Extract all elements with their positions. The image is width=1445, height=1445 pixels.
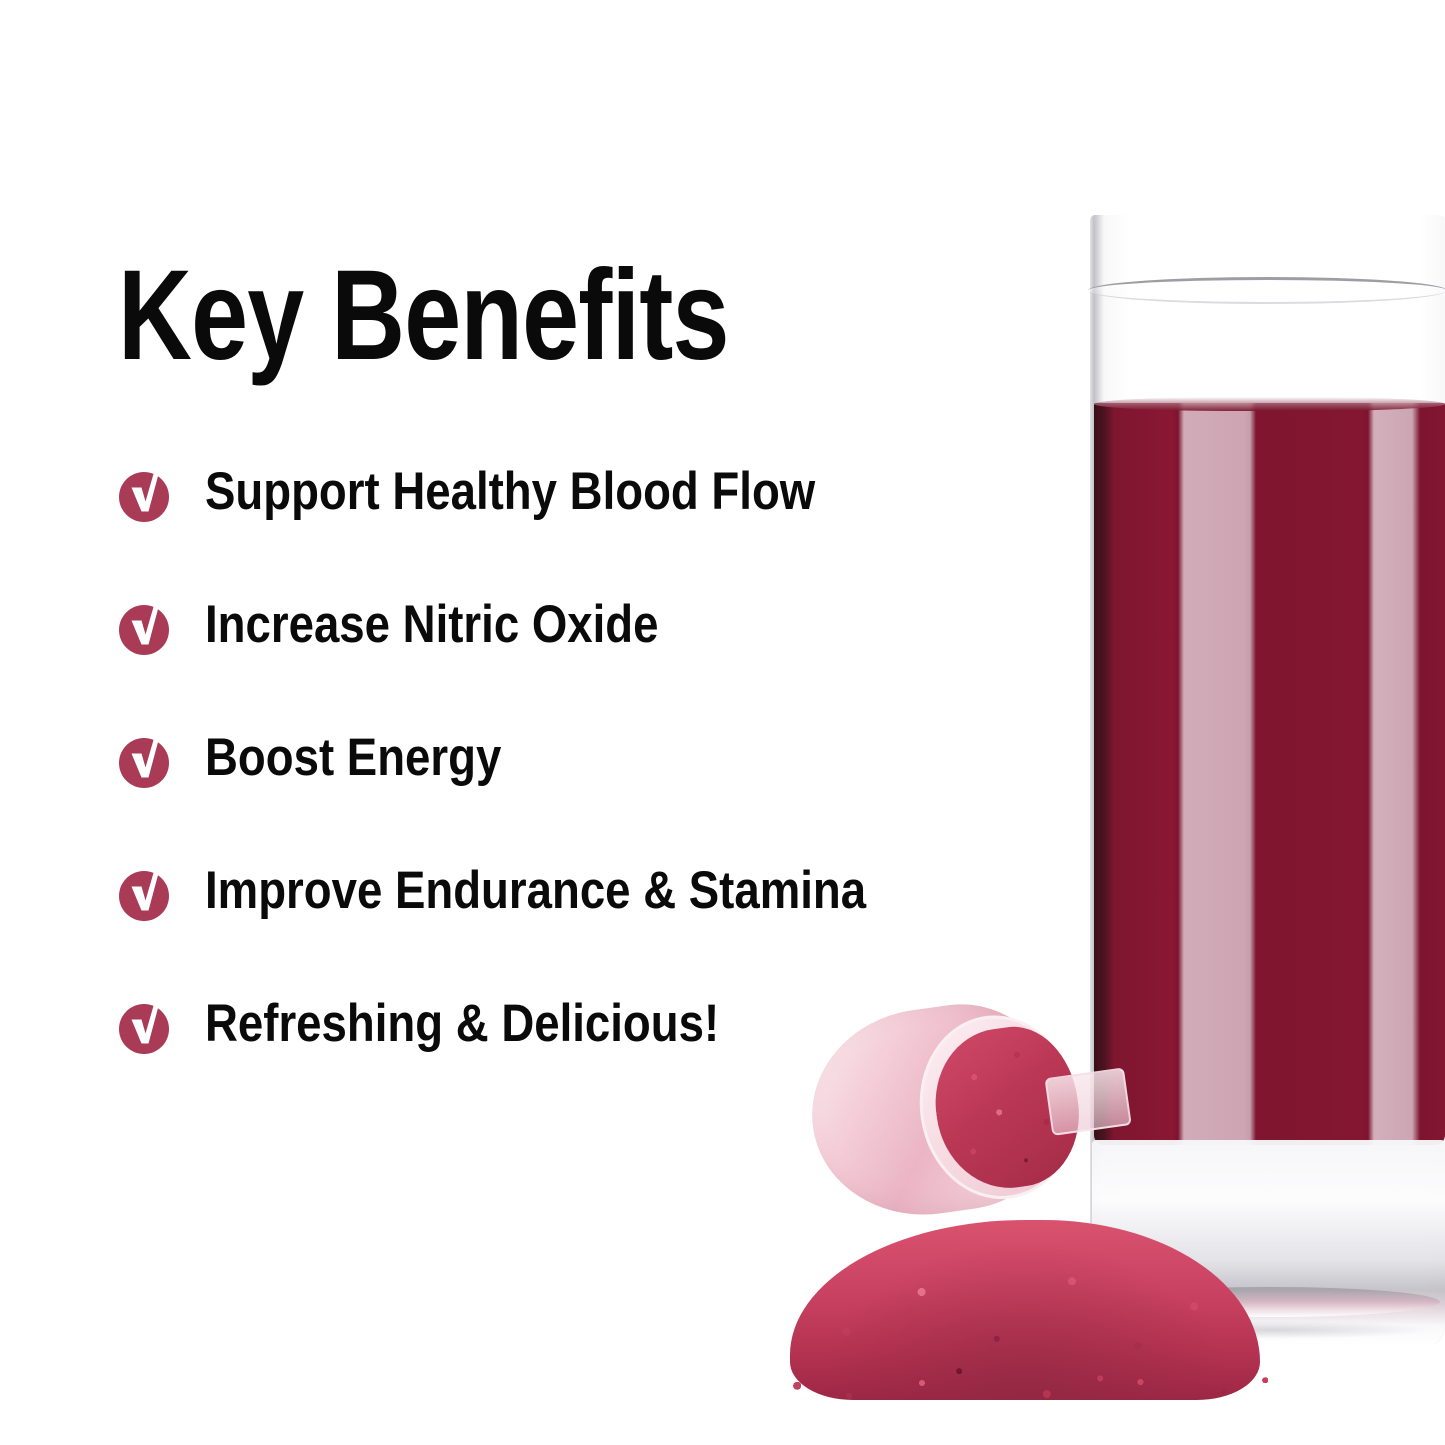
glass-rim bbox=[1088, 277, 1445, 304]
scoop-handle bbox=[1044, 1067, 1131, 1136]
powder-scatter bbox=[766, 1360, 1286, 1406]
beet-juice bbox=[1094, 403, 1445, 1145]
infographic-canvas: Key Benefits Support Healthy Blood Flow … bbox=[0, 0, 1445, 1445]
juice-surface bbox=[1094, 397, 1445, 411]
beet-powder-pile bbox=[790, 1190, 1260, 1400]
glass-of-beet-juice bbox=[1090, 215, 1445, 1345]
check-circle-icon bbox=[118, 736, 170, 788]
benefit-label: Refreshing & Delicious! bbox=[205, 990, 719, 1058]
benefit-label: Boost Energy bbox=[205, 724, 501, 792]
check-circle-icon bbox=[118, 1002, 170, 1054]
benefit-label: Increase Nitric Oxide bbox=[205, 591, 658, 659]
page-title: Key Benefits bbox=[118, 252, 729, 380]
product-photo bbox=[760, 150, 1445, 1445]
benefit-label: Support Healthy Blood Flow bbox=[205, 458, 815, 526]
check-circle-icon bbox=[118, 603, 170, 655]
check-circle-icon bbox=[118, 470, 170, 522]
check-circle-icon bbox=[118, 869, 170, 921]
